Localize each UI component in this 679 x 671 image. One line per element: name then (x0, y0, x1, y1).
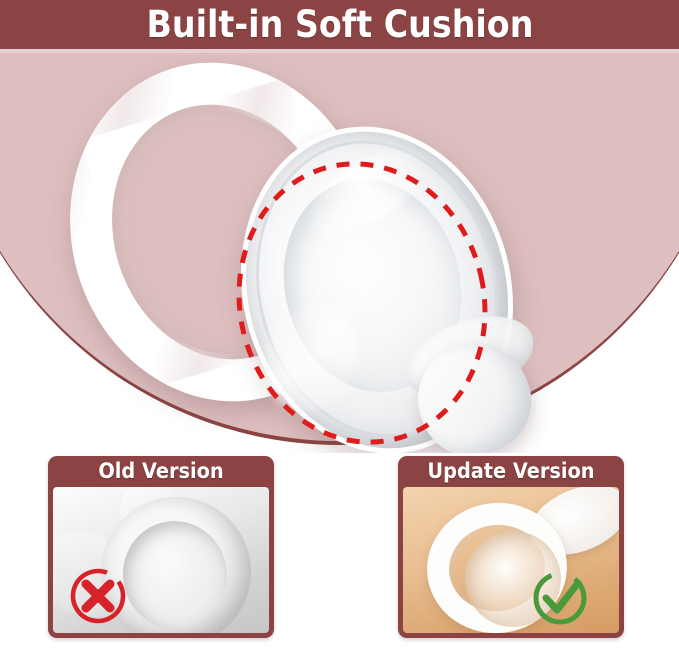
panel-update-version-photo (403, 487, 619, 633)
product-photo (0, 53, 679, 453)
panel-update-version-label: Update Version (407, 456, 615, 486)
check-mark-icon (529, 567, 591, 629)
header-banner: Built-in Soft Cushion (0, 0, 679, 49)
product-infographic: Built-in Soft Cushion Old Version (0, 0, 679, 671)
panel-old-version-photo (53, 487, 269, 633)
panel-update-version: Update Version (398, 456, 624, 638)
comparison-section: Old Version VS Update Version (0, 452, 679, 671)
hero-section (0, 53, 679, 453)
page-title: Built-in Soft Cushion (146, 3, 533, 46)
panel-old-version-label: Old Version (57, 456, 265, 486)
panel-old-version: Old Version (48, 456, 274, 638)
x-mark-icon (67, 565, 129, 627)
